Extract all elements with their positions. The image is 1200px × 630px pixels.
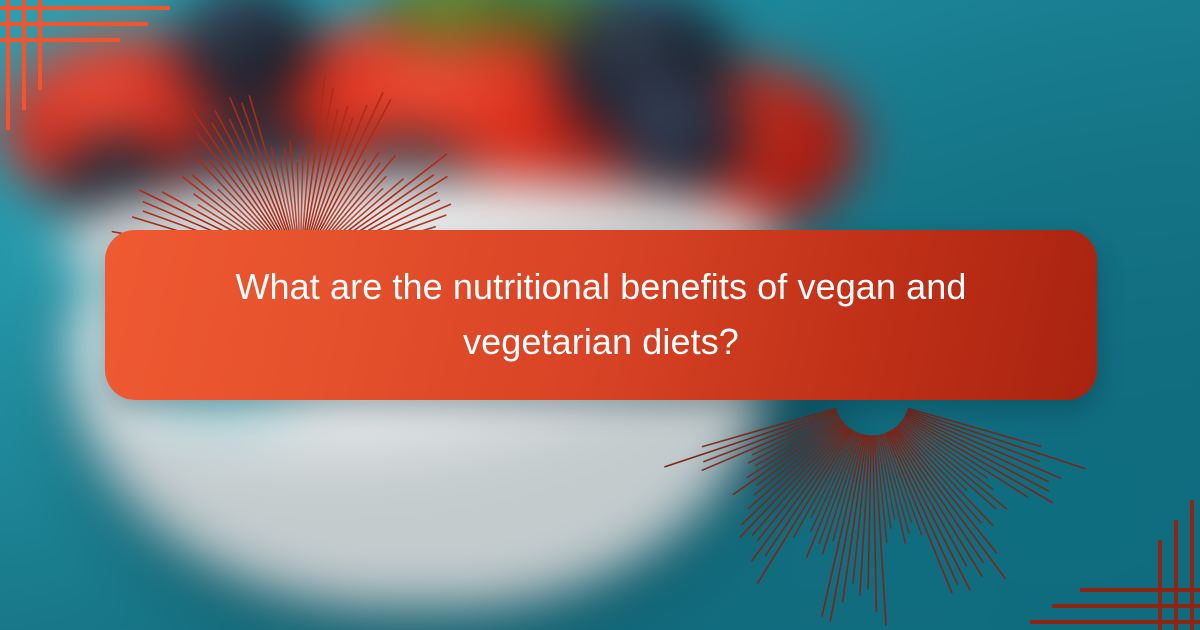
question-banner: What are the nutritional benefits of veg… [105, 230, 1097, 400]
page-title: What are the nutritional benefits of veg… [201, 260, 1001, 369]
promo-card: What are the nutritional benefits of veg… [0, 0, 1200, 630]
blackberry-4 [612, 80, 744, 192]
